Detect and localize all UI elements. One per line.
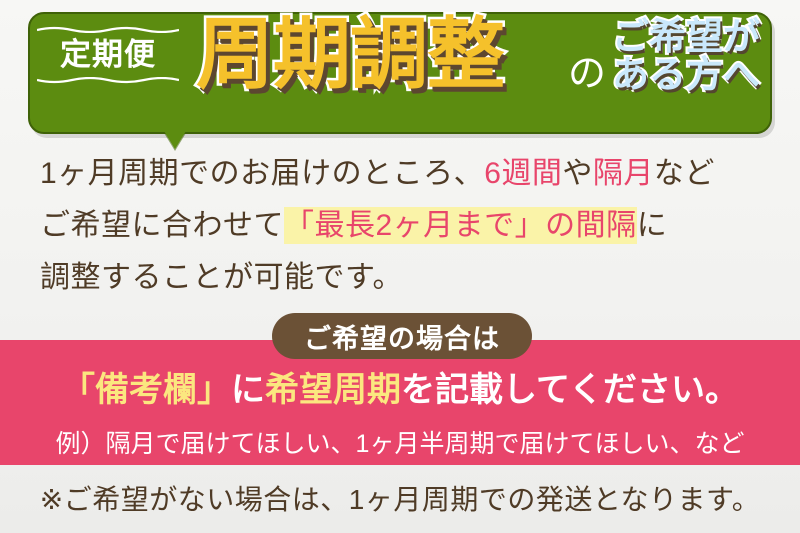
body-line-1-mid: や: [562, 157, 593, 190]
instruction-mid: に: [231, 371, 265, 409]
body-accent-six-weeks: 6週間: [484, 157, 562, 190]
title-connector-particle: の: [568, 55, 606, 93]
subscription-badge-label: 定期便: [34, 36, 182, 75]
instruction-post: を記載してください。: [401, 371, 739, 409]
wish-callout-line-2: ある方へ: [612, 56, 784, 94]
subscription-badge: 定期便: [34, 26, 182, 84]
body-line-1-pre: 1ヶ月周期でのお届けのところ、: [40, 157, 484, 190]
body-accent-every-other-month: 隔月: [593, 157, 654, 190]
body-line-1-post: など: [654, 157, 715, 190]
body-line-2-pre: ご希望に合わせて: [40, 209, 284, 242]
body-line-2-post: に: [637, 209, 668, 242]
body-line-2: ご希望に合わせて「最長2ヶ月まで」の間隔に: [40, 200, 770, 252]
instruction-emph-desired-cycle: 希望周期: [265, 371, 401, 409]
instruction-emph-remarks-field: 「備考欄」: [61, 371, 231, 409]
page-title: 周期調整: [196, 6, 504, 104]
wavy-line-top-icon: [37, 26, 179, 33]
footer-note: ※ご希望がない場合は、1ヶ月周期での発送となります。: [0, 478, 800, 518]
body-line-1: 1ヶ月周期でのお届けのところ、6週間や隔月など: [40, 148, 770, 200]
wish-callout-line-1: ご希望が: [612, 18, 784, 56]
promotional-banner: 定期便 周期調整 の ご希望が ある方へ 1ヶ月周期でのお届けのところ、6週間や…: [0, 0, 800, 533]
instruction-main-line: 「備考欄」に希望周期を記載してください。: [0, 362, 800, 411]
body-highlight-max-interval: 「最長2ヶ月まで」の間隔: [284, 207, 637, 244]
body-paragraph: 1ヶ月周期でのお届けのところ、6週間や隔月など ご希望に合わせて「最長2ヶ月まで…: [40, 148, 770, 304]
instruction-example-line: 例）隔月で届けてほしい、1ヶ月半周期で届けてほしい、など: [0, 424, 800, 460]
body-line-3: 調整することが可能です。: [40, 252, 770, 304]
wish-callout: ご希望が ある方へ: [612, 18, 784, 93]
wish-case-badge: ご希望の場合は: [272, 313, 532, 359]
wavy-line-bottom-icon: [37, 77, 179, 84]
wish-case-badge-label: ご希望の場合は: [304, 317, 500, 356]
speech-bubble-tail-icon: [164, 131, 186, 149]
